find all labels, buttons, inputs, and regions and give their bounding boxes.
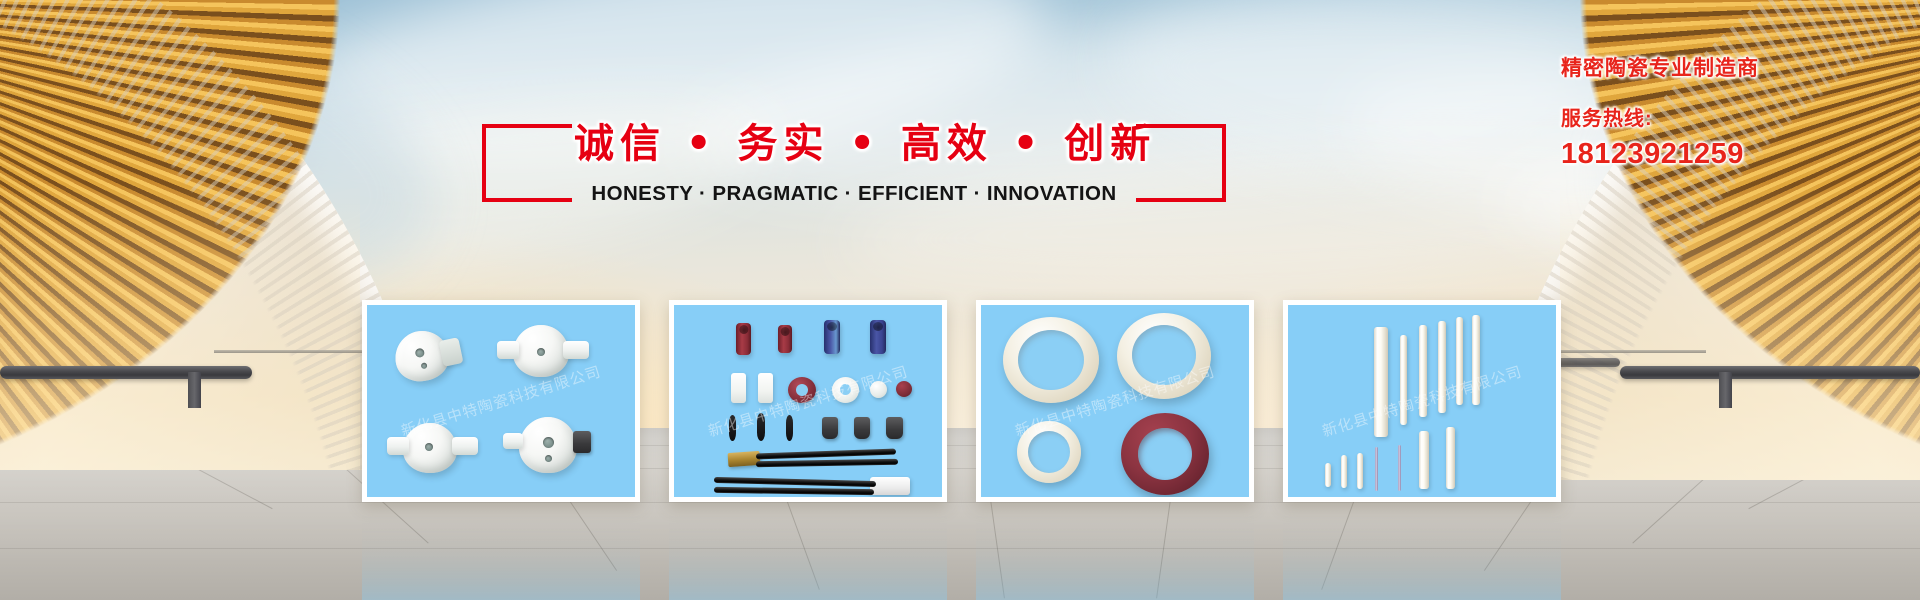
lamp-holder-flange	[503, 433, 523, 449]
ceramic-tube-maroon	[736, 323, 751, 355]
wire-connector-white	[870, 477, 910, 495]
railing-post-left	[188, 372, 201, 408]
lamp-holder-flange	[563, 341, 589, 359]
ceramic-rod-small	[1446, 427, 1455, 489]
ceramic-pin-violet	[1375, 447, 1378, 491]
lamp-holder-contact	[573, 431, 591, 453]
railing-post-right	[1719, 372, 1732, 408]
metal-blade	[786, 415, 793, 441]
company-tagline: 精密陶瓷专业制造商	[1561, 52, 1891, 82]
product-panel-row: 新化县中特陶瓷科技有限公司	[362, 300, 1562, 502]
ceramic-ring-white	[832, 377, 859, 403]
banner-stage: 诚信 • 务实 • 高效 • 创新 HONESTY · PRAGMATIC · …	[0, 0, 1920, 600]
lamp-holder-part	[519, 417, 577, 473]
ceramic-rod	[1472, 315, 1480, 405]
wire-lead	[714, 477, 876, 487]
lamp-holder-flange	[387, 437, 409, 455]
metal-clip	[822, 417, 838, 439]
product-panel-ceramic-tubes[interactable]: 新化县中特陶瓷科技有限公司	[669, 300, 947, 502]
lamp-holder-flange	[452, 437, 478, 455]
ceramic-rod	[1400, 335, 1407, 425]
ceramic-rod-small	[1419, 431, 1429, 489]
ceramic-tube-navy	[870, 320, 886, 354]
lamp-holder-part	[513, 325, 569, 377]
product-panel-ceramic-rings[interactable]: 新化县中特陶瓷科技有限公司	[976, 300, 1254, 502]
product-panel-ceramic-lamp-holders[interactable]: 新化县中特陶瓷科技有限公司	[362, 300, 640, 502]
wire-lead	[756, 449, 896, 460]
ceramic-ring-large	[1003, 317, 1099, 403]
metal-clip	[886, 417, 903, 439]
hotline-label: 服务热线:	[1561, 102, 1891, 131]
ceramic-rod-small	[1325, 463, 1331, 487]
slogan-english: HONESTY · PRAGMATIC · EFFICIENT · INNOVA…	[574, 182, 1134, 206]
ceramic-cap-maroon	[896, 381, 912, 397]
ceramic-ring-maroon	[788, 377, 816, 403]
lamp-holder-part-base	[439, 337, 464, 367]
ceramic-pin-violet	[1398, 445, 1401, 491]
railing-left	[0, 366, 252, 379]
hotline-number[interactable]: 18123921259	[1561, 138, 1891, 171]
metal-blade	[757, 413, 765, 441]
ceramic-tube-navy	[824, 320, 840, 354]
product-panel-ceramic-rods[interactable]: 新化县中特陶瓷科技有限公司	[1283, 300, 1561, 502]
bracket-right-icon	[1136, 124, 1226, 202]
railing-top-rail-right	[1556, 350, 1706, 353]
metal-blade	[729, 415, 736, 441]
ceramic-rod	[1374, 327, 1388, 437]
metal-clip	[854, 417, 870, 439]
ceramic-rod-small	[1341, 455, 1347, 488]
ceramic-cap-white	[870, 381, 887, 398]
ceramic-ring-maroon	[1121, 413, 1209, 495]
slogan-chinese: 诚信 • 务实 • 高效 • 创新	[574, 118, 1134, 170]
ceramic-ring-small	[1017, 421, 1081, 483]
lamp-holder-flange	[497, 341, 519, 359]
ceramic-rod-small	[1357, 453, 1363, 489]
ceramic-ring-large	[1117, 313, 1211, 399]
railing-top-rail-left	[214, 350, 364, 353]
ceramic-rod	[1456, 317, 1463, 405]
slogan-block: 诚信 • 务实 • 高效 • 创新 HONESTY · PRAGMATIC · …	[574, 118, 1134, 214]
bracket-left-icon	[482, 124, 572, 202]
wire-lead	[714, 487, 874, 495]
ceramic-rod	[1438, 321, 1446, 413]
ceramic-tube-maroon	[778, 325, 792, 353]
architecture-left-wing	[0, 0, 420, 470]
ceramic-plate	[731, 373, 746, 403]
railing-right	[1620, 366, 1920, 379]
wire-lead	[756, 459, 898, 467]
lamp-holder-part	[403, 423, 457, 473]
ceramic-plate	[758, 373, 773, 403]
contact-block: 精密陶瓷专业制造商 服务热线: 18123921259	[1561, 52, 1891, 171]
ceramic-rod	[1419, 325, 1427, 417]
